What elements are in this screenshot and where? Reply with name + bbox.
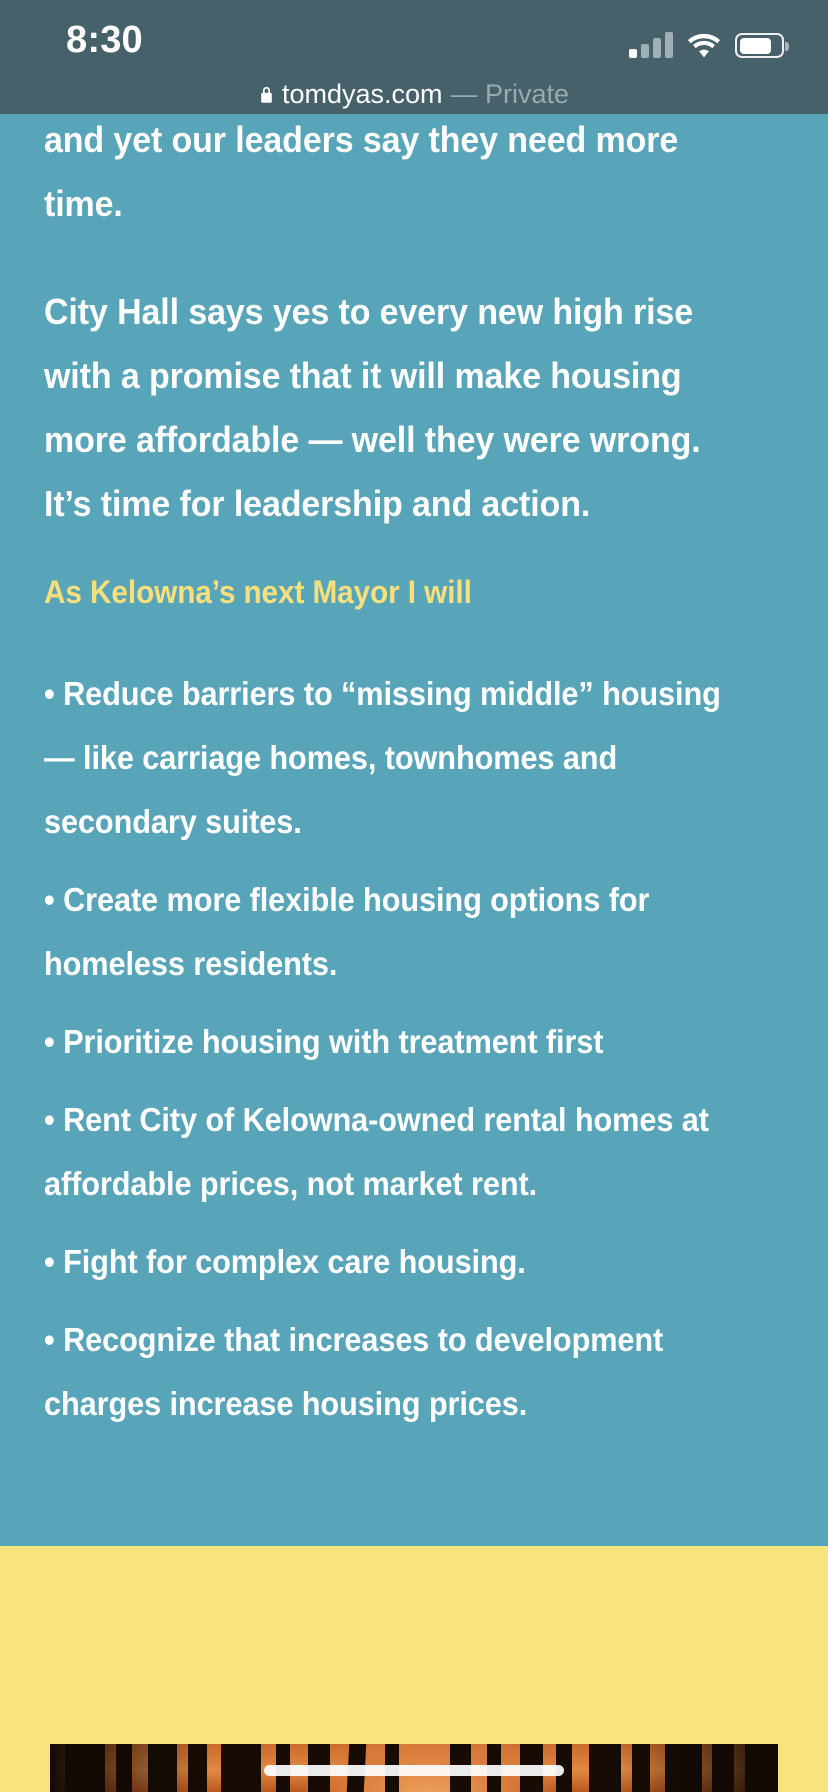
- status-bar-indicators: [629, 26, 784, 58]
- housing-platform-section: and yet our leaders say they need more t…: [0, 0, 828, 1546]
- list-item: • Create more flexible housing options f…: [44, 868, 732, 996]
- url-bar[interactable]: tomdyas.com — Private: [0, 74, 828, 114]
- url-host-label: tomdyas.com: [282, 79, 443, 109]
- wifi-icon: [687, 32, 721, 58]
- home-indicator[interactable]: [264, 1765, 564, 1776]
- list-item: • Rent City of Kelowna-owned rental home…: [44, 1088, 732, 1216]
- list-item: • Reduce barriers to “missing middle” ho…: [44, 662, 732, 854]
- browser-chrome: 8:30: [0, 0, 828, 114]
- list-item: • Recognize that increases to developmen…: [44, 1308, 732, 1436]
- status-bar-clock: 8:30: [66, 20, 143, 60]
- webpage-content: and yet our leaders say they need more t…: [0, 0, 828, 1792]
- paragraph-city-hall: City Hall says yes to every new high ris…: [44, 280, 732, 536]
- phone-screen: and yet our leaders say they need more t…: [0, 0, 828, 1792]
- lock-icon: [259, 85, 274, 104]
- paragraph-intro: and yet our leaders say they need more t…: [44, 108, 732, 236]
- cellular-signal-icon: [629, 32, 673, 58]
- battery-icon: [735, 33, 784, 58]
- status-bar: 8:30: [0, 0, 828, 74]
- list-item: • Prioritize housing with treatment firs…: [44, 1010, 732, 1074]
- list-item: • Fight for complex care housing.: [44, 1230, 732, 1294]
- section-headline: As Kelowna’s next Mayor I will: [44, 572, 732, 612]
- url-private-label: — Private: [451, 79, 570, 109]
